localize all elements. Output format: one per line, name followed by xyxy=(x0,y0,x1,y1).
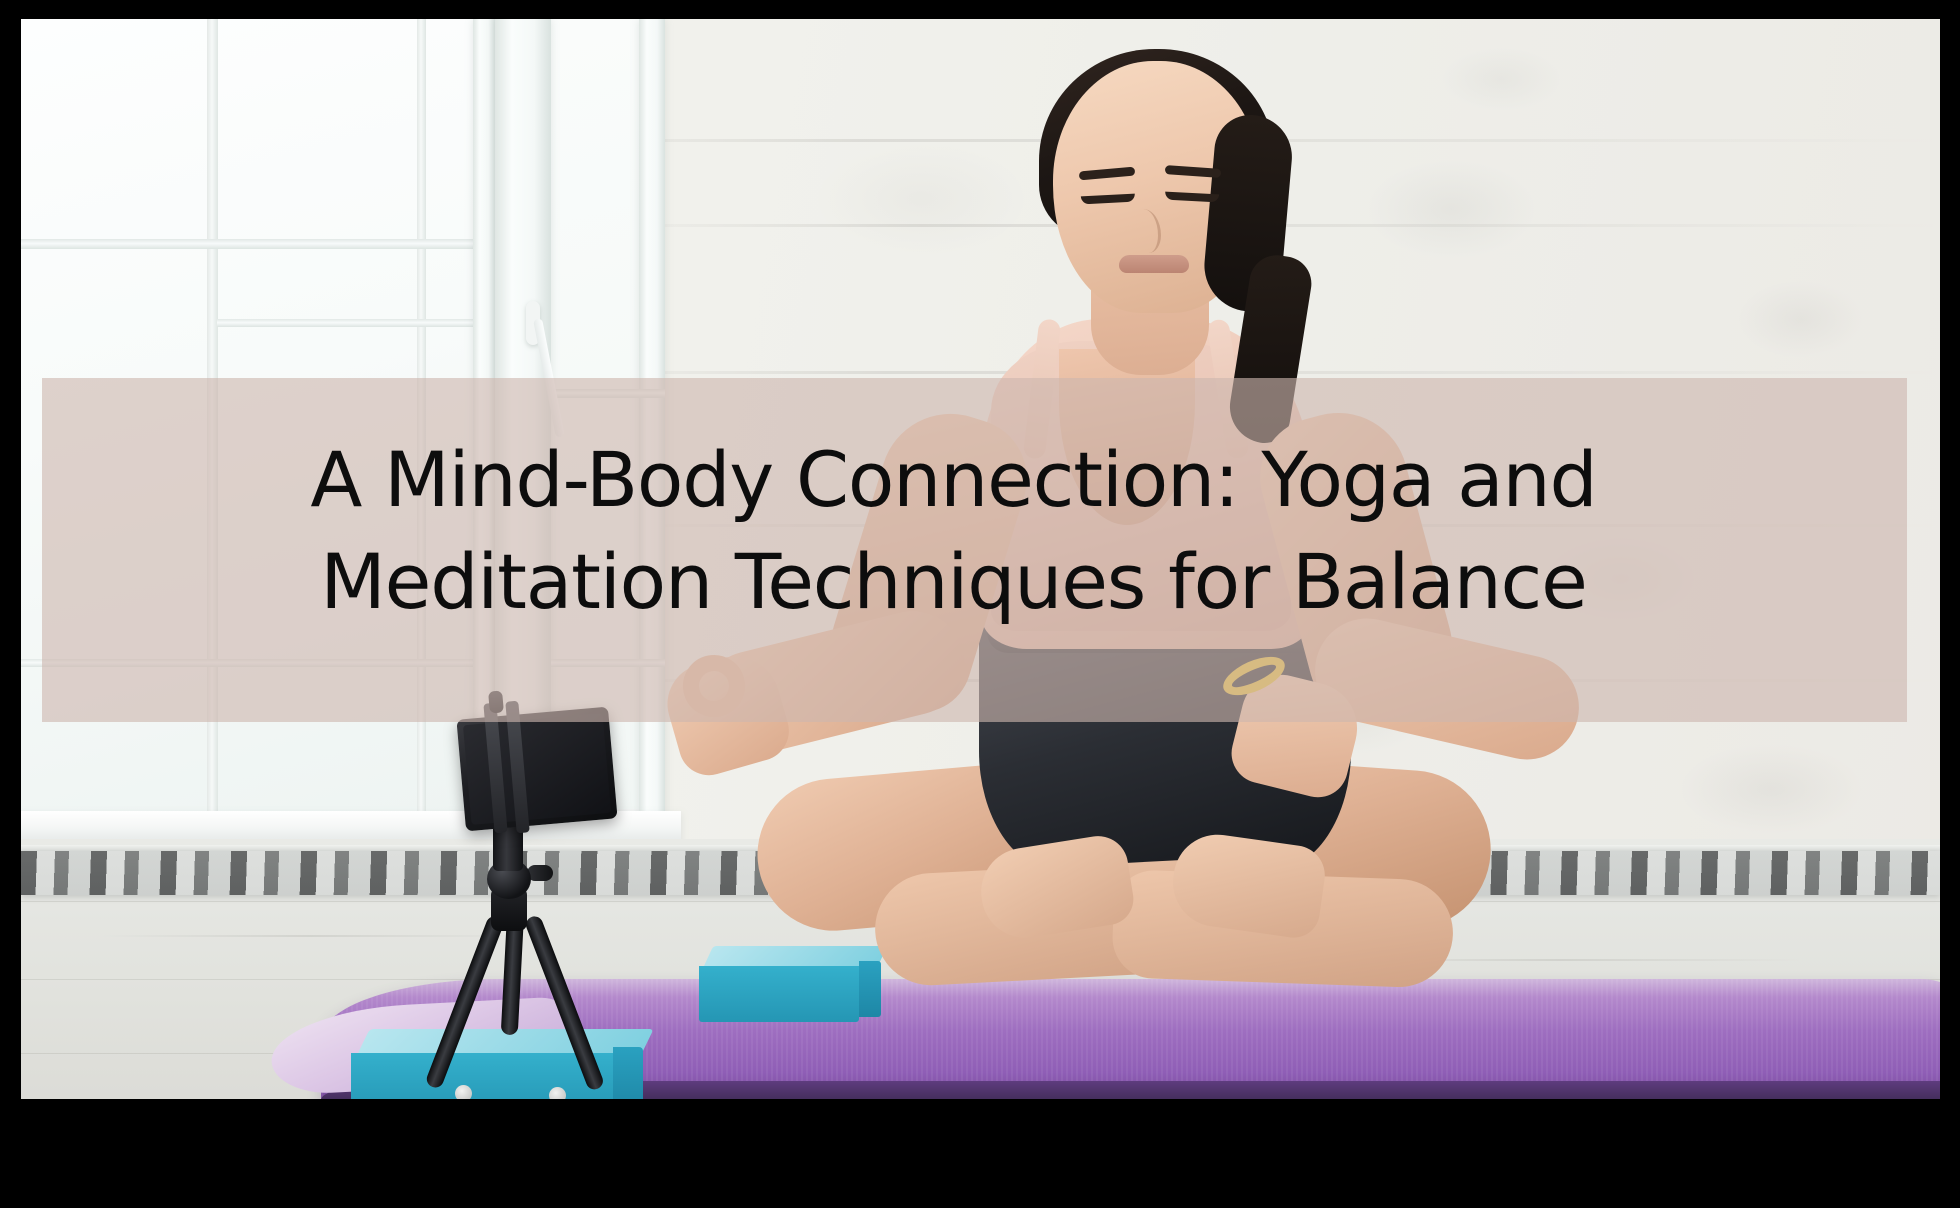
tripod-leg xyxy=(524,914,606,1092)
tripod-leg xyxy=(424,914,505,1090)
hero-title-line-1: A Mind-Body Connection: Yoga and xyxy=(310,432,1596,528)
hero-title-line-2: Meditation Techniques for Balance xyxy=(320,534,1586,630)
window-mullion xyxy=(21,239,491,249)
tripod-foot xyxy=(455,1085,472,1099)
lips xyxy=(1119,255,1189,273)
window-mullion xyxy=(217,319,491,327)
tripod-foot xyxy=(549,1087,566,1099)
hero-title: A Mind-Body Connection: Yoga and Meditat… xyxy=(21,359,1886,703)
phone-tripod-rig xyxy=(431,679,691,1079)
smartphone[interactable] xyxy=(456,707,617,832)
article-hero-banner: A Mind-Body Connection: Yoga and Meditat… xyxy=(0,0,1960,1208)
tripod-leg xyxy=(501,915,524,1036)
